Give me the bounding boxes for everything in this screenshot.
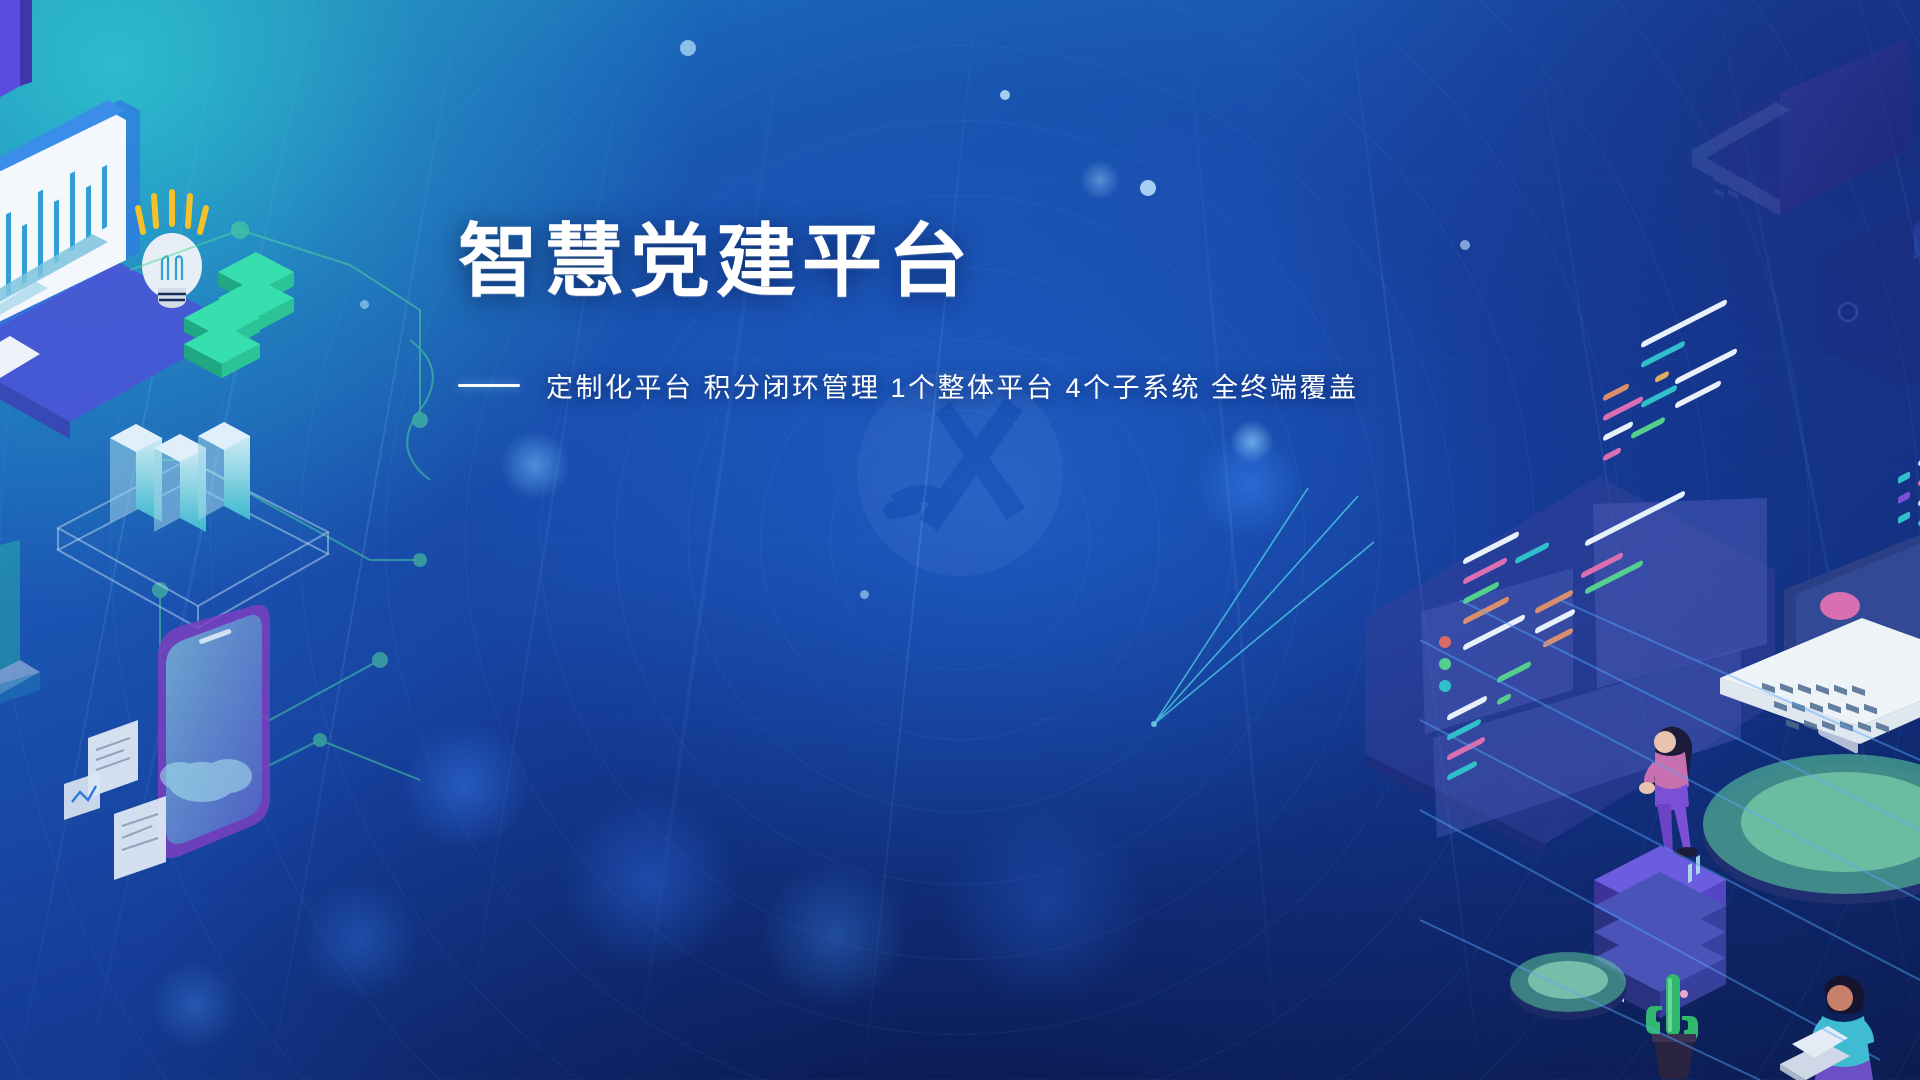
hero-banner: 智慧党建平台 定制化平台 积分闭环管理 1个整体平台 4个子系统 全终端覆盖 <box>0 0 1920 1080</box>
subtitle-row: 定制化平台 积分闭环管理 1个整体平台 4个子系统 全终端覆盖 <box>458 366 1498 405</box>
page-title: 智慧党建平台 <box>458 222 1498 302</box>
subtitle-dash-line <box>458 384 520 387</box>
subtitle-text: 定制化平台 积分闭环管理 1个整体平台 4个子系统 全终端覆盖 <box>546 366 1359 405</box>
headline-block: 智慧党建平台 定制化平台 积分闭环管理 1个整体平台 4个子系统 全终端覆盖 <box>458 222 1498 405</box>
